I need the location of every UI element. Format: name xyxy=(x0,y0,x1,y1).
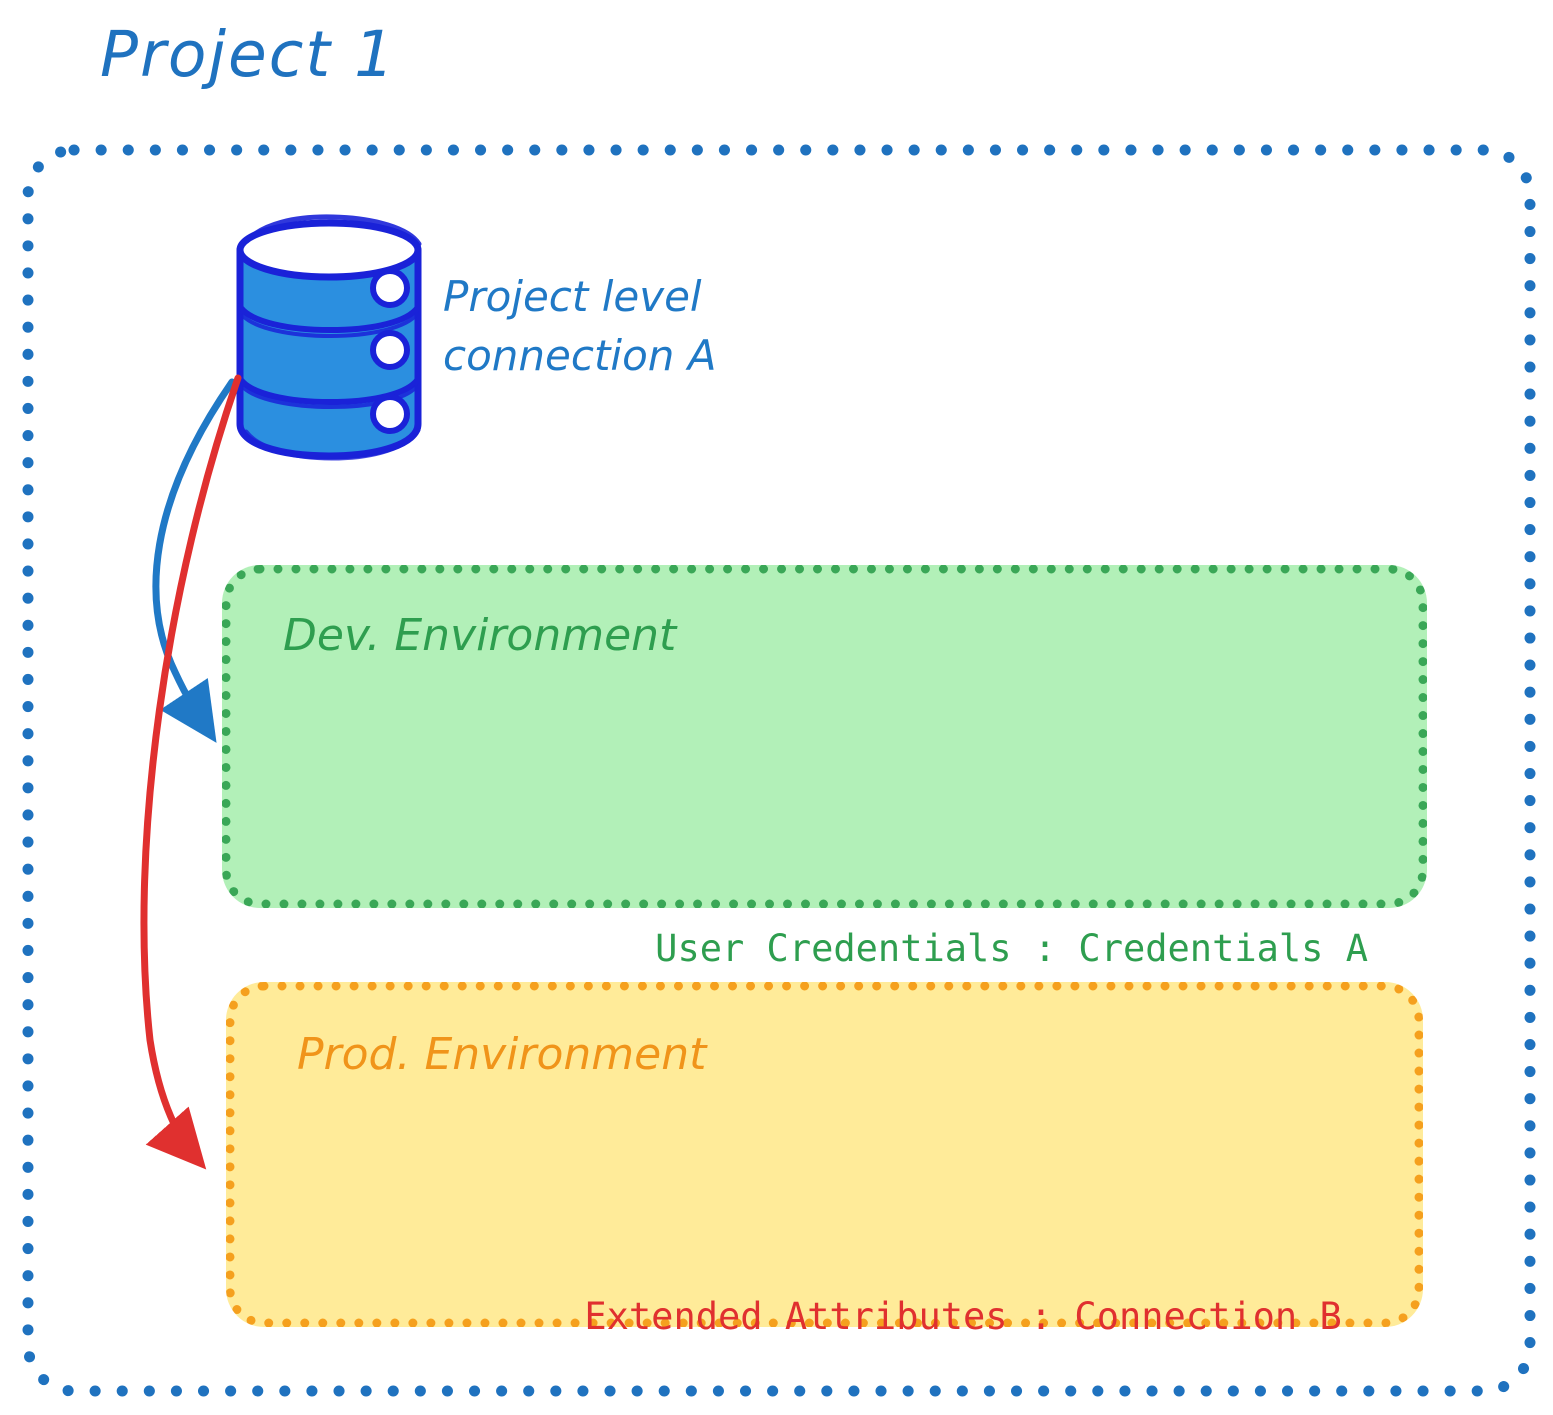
page-title: Project 1 xyxy=(100,18,396,91)
database-cylinder-icon xyxy=(240,217,419,458)
prod-environment-rows: Extended Attributes : Connection B Ext.A… xyxy=(584,1187,1364,1415)
database-label-line1: Project level xyxy=(443,267,717,326)
db-led-2 xyxy=(373,333,407,367)
dev-row-user-credentials: User Credentials : Credentials A xyxy=(655,923,1368,975)
database-label-line2: connection A xyxy=(443,326,717,385)
prod-row-extended-attributes: Extended Attributes : Connection B xyxy=(584,1291,1364,1343)
prod-environment-box[interactable]: Prod. Environment Extended Attributes : … xyxy=(226,982,1423,1327)
prod-environment-title: Prod. Environment xyxy=(297,1029,706,1080)
dev-environment-title: Dev. Environment xyxy=(283,610,676,661)
db-led-1 xyxy=(373,271,407,305)
database-label: Project level connection A xyxy=(443,267,717,385)
dev-environment-box[interactable]: Dev. Environment User Credentials : Cred… xyxy=(222,565,1427,908)
db-led-3 xyxy=(373,397,407,431)
diagram-canvas: Project 1 Project level connection A Dev… xyxy=(0,0,1553,1415)
